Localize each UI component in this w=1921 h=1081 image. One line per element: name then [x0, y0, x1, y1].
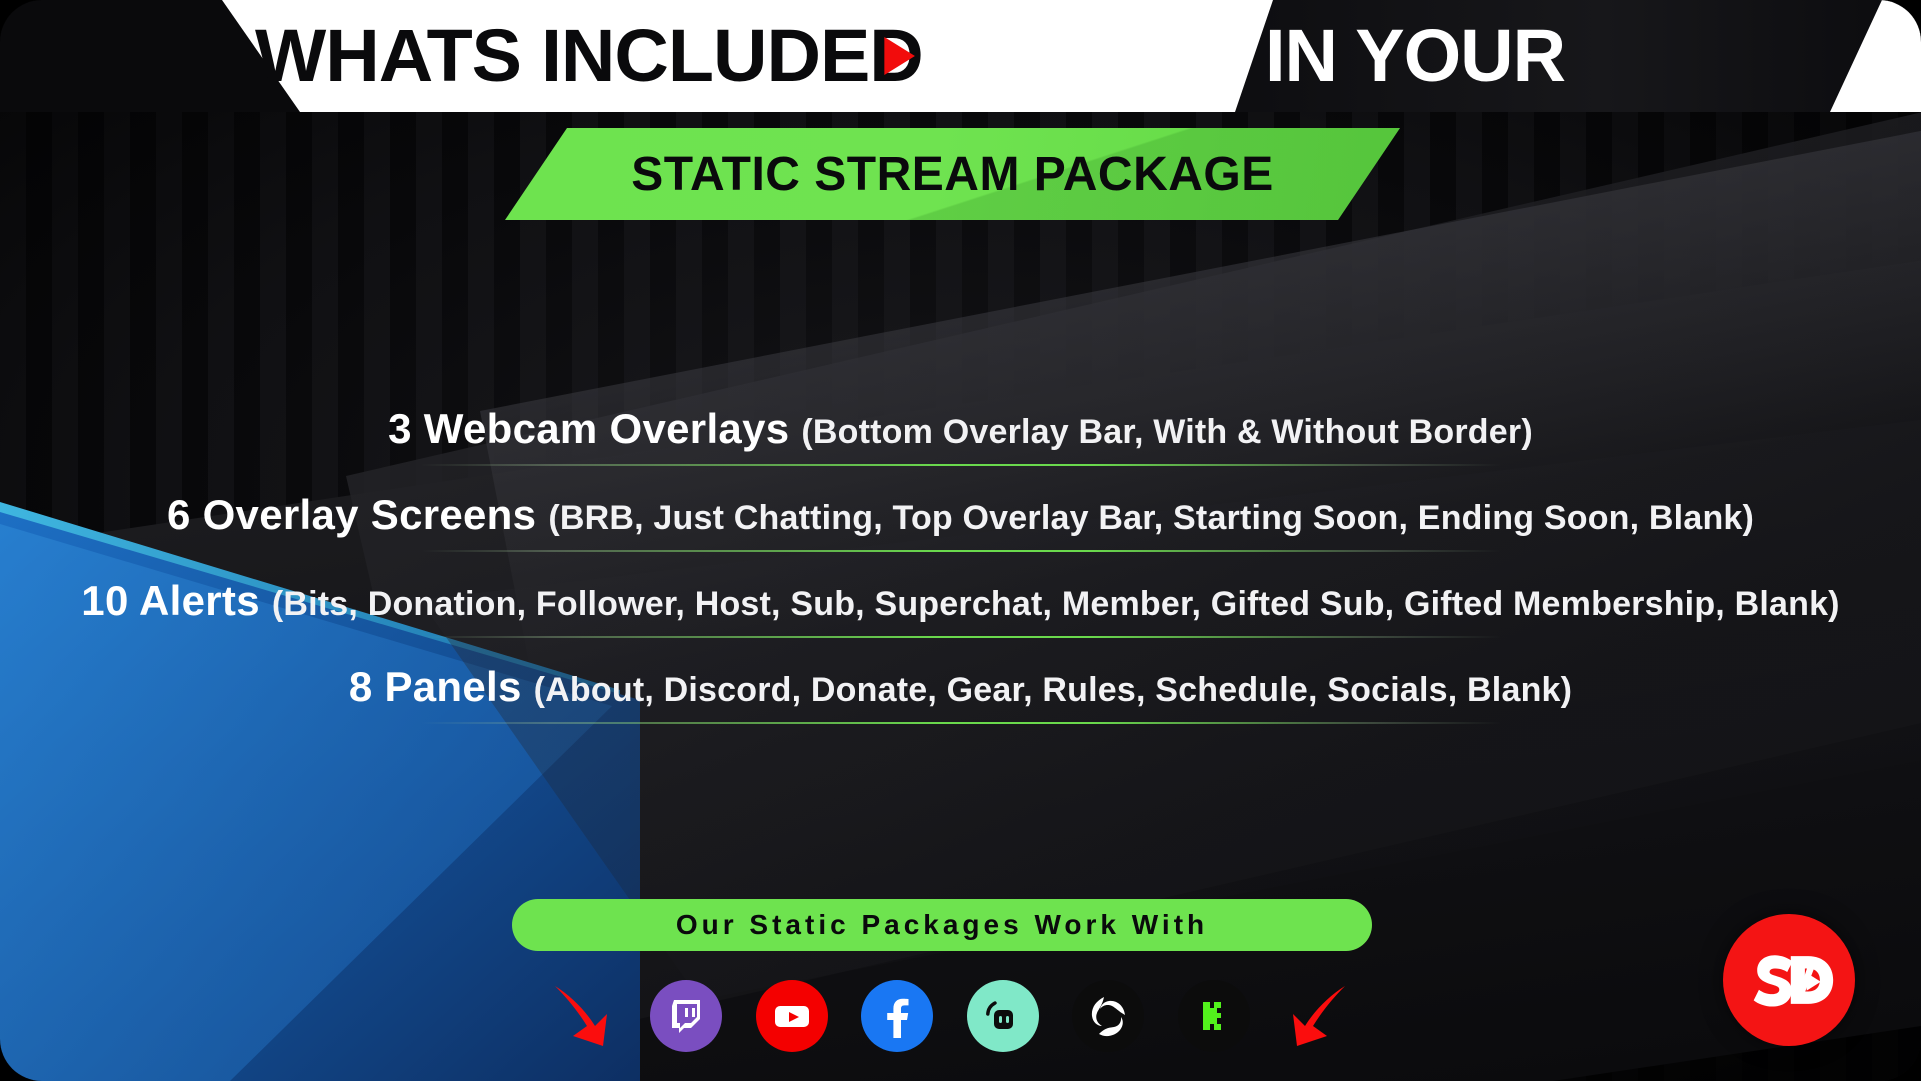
header: WHATS INCLUDED IN YOUR [0, 0, 1921, 112]
platform-icon-row [545, 966, 1355, 1066]
page-title: WHATS INCLUDED [255, 8, 923, 104]
feature-divider [421, 464, 1501, 466]
feature-detail: (About, Discord, Donate, Gear, Rules, Sc… [534, 671, 1573, 709]
page-title-d-letter: D [869, 8, 923, 104]
promo-card: WHATS INCLUDED IN YOUR STATIC STREAM PAC… [0, 0, 1921, 1081]
works-with-banner: Our Static Packages Work With [512, 899, 1372, 951]
arrow-right-down-icon [545, 980, 617, 1052]
facebook-icon[interactable] [861, 980, 933, 1052]
obs-icon[interactable] [1072, 980, 1144, 1052]
feature-list: 3 Webcam Overlays(Bottom Overlay Bar, Wi… [0, 386, 1921, 730]
play-triangle-icon [884, 37, 915, 75]
feature-row: 8 Panels(About, Discord, Donate, Gear, R… [0, 644, 1921, 730]
feature-row: 10 Alerts(Bits, Donation, Follower, Host… [0, 558, 1921, 644]
feature-row: 6 Overlay Screens(BRB, Just Chatting, To… [0, 472, 1921, 558]
feature-count: 8 Panels [349, 663, 522, 710]
feature-divider [421, 636, 1501, 638]
page-title-text: WHATS INCLUDE [255, 14, 869, 97]
youtube-icon[interactable] [756, 980, 828, 1052]
streamlabs-icon[interactable] [967, 980, 1039, 1052]
feature-count: 6 Overlay Screens [167, 491, 536, 538]
arrow-left-down-icon [1283, 980, 1355, 1052]
sd-logo[interactable] [1723, 914, 1855, 1046]
package-banner-label: STATIC STREAM PACKAGE [505, 128, 1400, 220]
feature-count: 10 Alerts [81, 577, 260, 624]
feature-divider [421, 722, 1501, 724]
kick-icon[interactable] [1178, 980, 1250, 1052]
works-with-label: Our Static Packages Work With [676, 909, 1208, 941]
twitch-icon[interactable] [650, 980, 722, 1052]
feature-detail: (Bottom Overlay Bar, With & Without Bord… [801, 413, 1532, 451]
feature-divider [421, 550, 1501, 552]
feature-row: 3 Webcam Overlays(Bottom Overlay Bar, Wi… [0, 386, 1921, 472]
page-title-secondary: IN YOUR [1265, 8, 1565, 104]
feature-count: 3 Webcam Overlays [388, 405, 789, 452]
feature-detail: (Bits, Donation, Follower, Host, Sub, Su… [272, 585, 1840, 623]
package-banner: STATIC STREAM PACKAGE [505, 128, 1400, 220]
feature-detail: (BRB, Just Chatting, Top Overlay Bar, St… [548, 499, 1754, 537]
